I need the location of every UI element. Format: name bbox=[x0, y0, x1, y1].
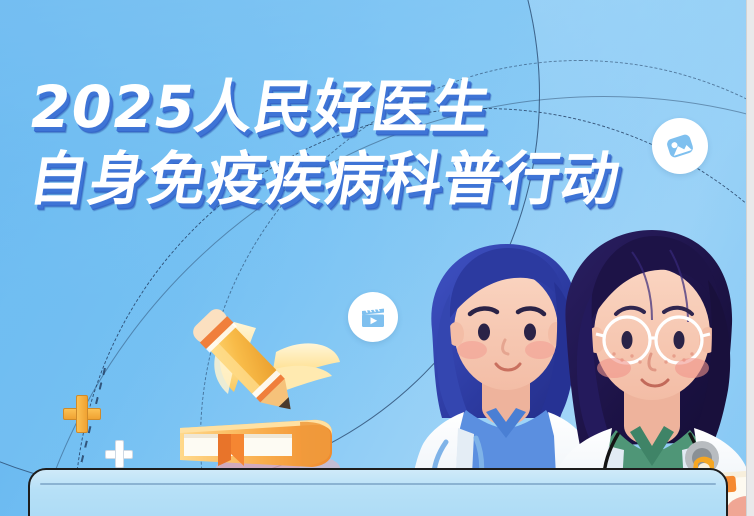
video-icon bbox=[358, 302, 388, 332]
banner-title-line-1: 2025人民好医生 bbox=[25, 78, 624, 136]
banner-canvas: 2025人民好医生 自身免疫疾病科普行动 bbox=[0, 0, 754, 516]
banner-title-line-2: 自身免疫疾病科普行动 bbox=[25, 150, 624, 208]
image-icon bbox=[663, 129, 697, 163]
right-edge-gutter bbox=[746, 0, 754, 516]
plus-white-icon bbox=[105, 440, 133, 468]
image-icon-badge[interactable] bbox=[652, 118, 708, 174]
banner-heading: 2025人民好医生 自身免疫疾病科普行动 bbox=[30, 78, 620, 208]
video-icon-badge[interactable] bbox=[348, 292, 398, 342]
bottom-panel bbox=[28, 468, 728, 516]
plus-orange-icon bbox=[63, 395, 101, 433]
